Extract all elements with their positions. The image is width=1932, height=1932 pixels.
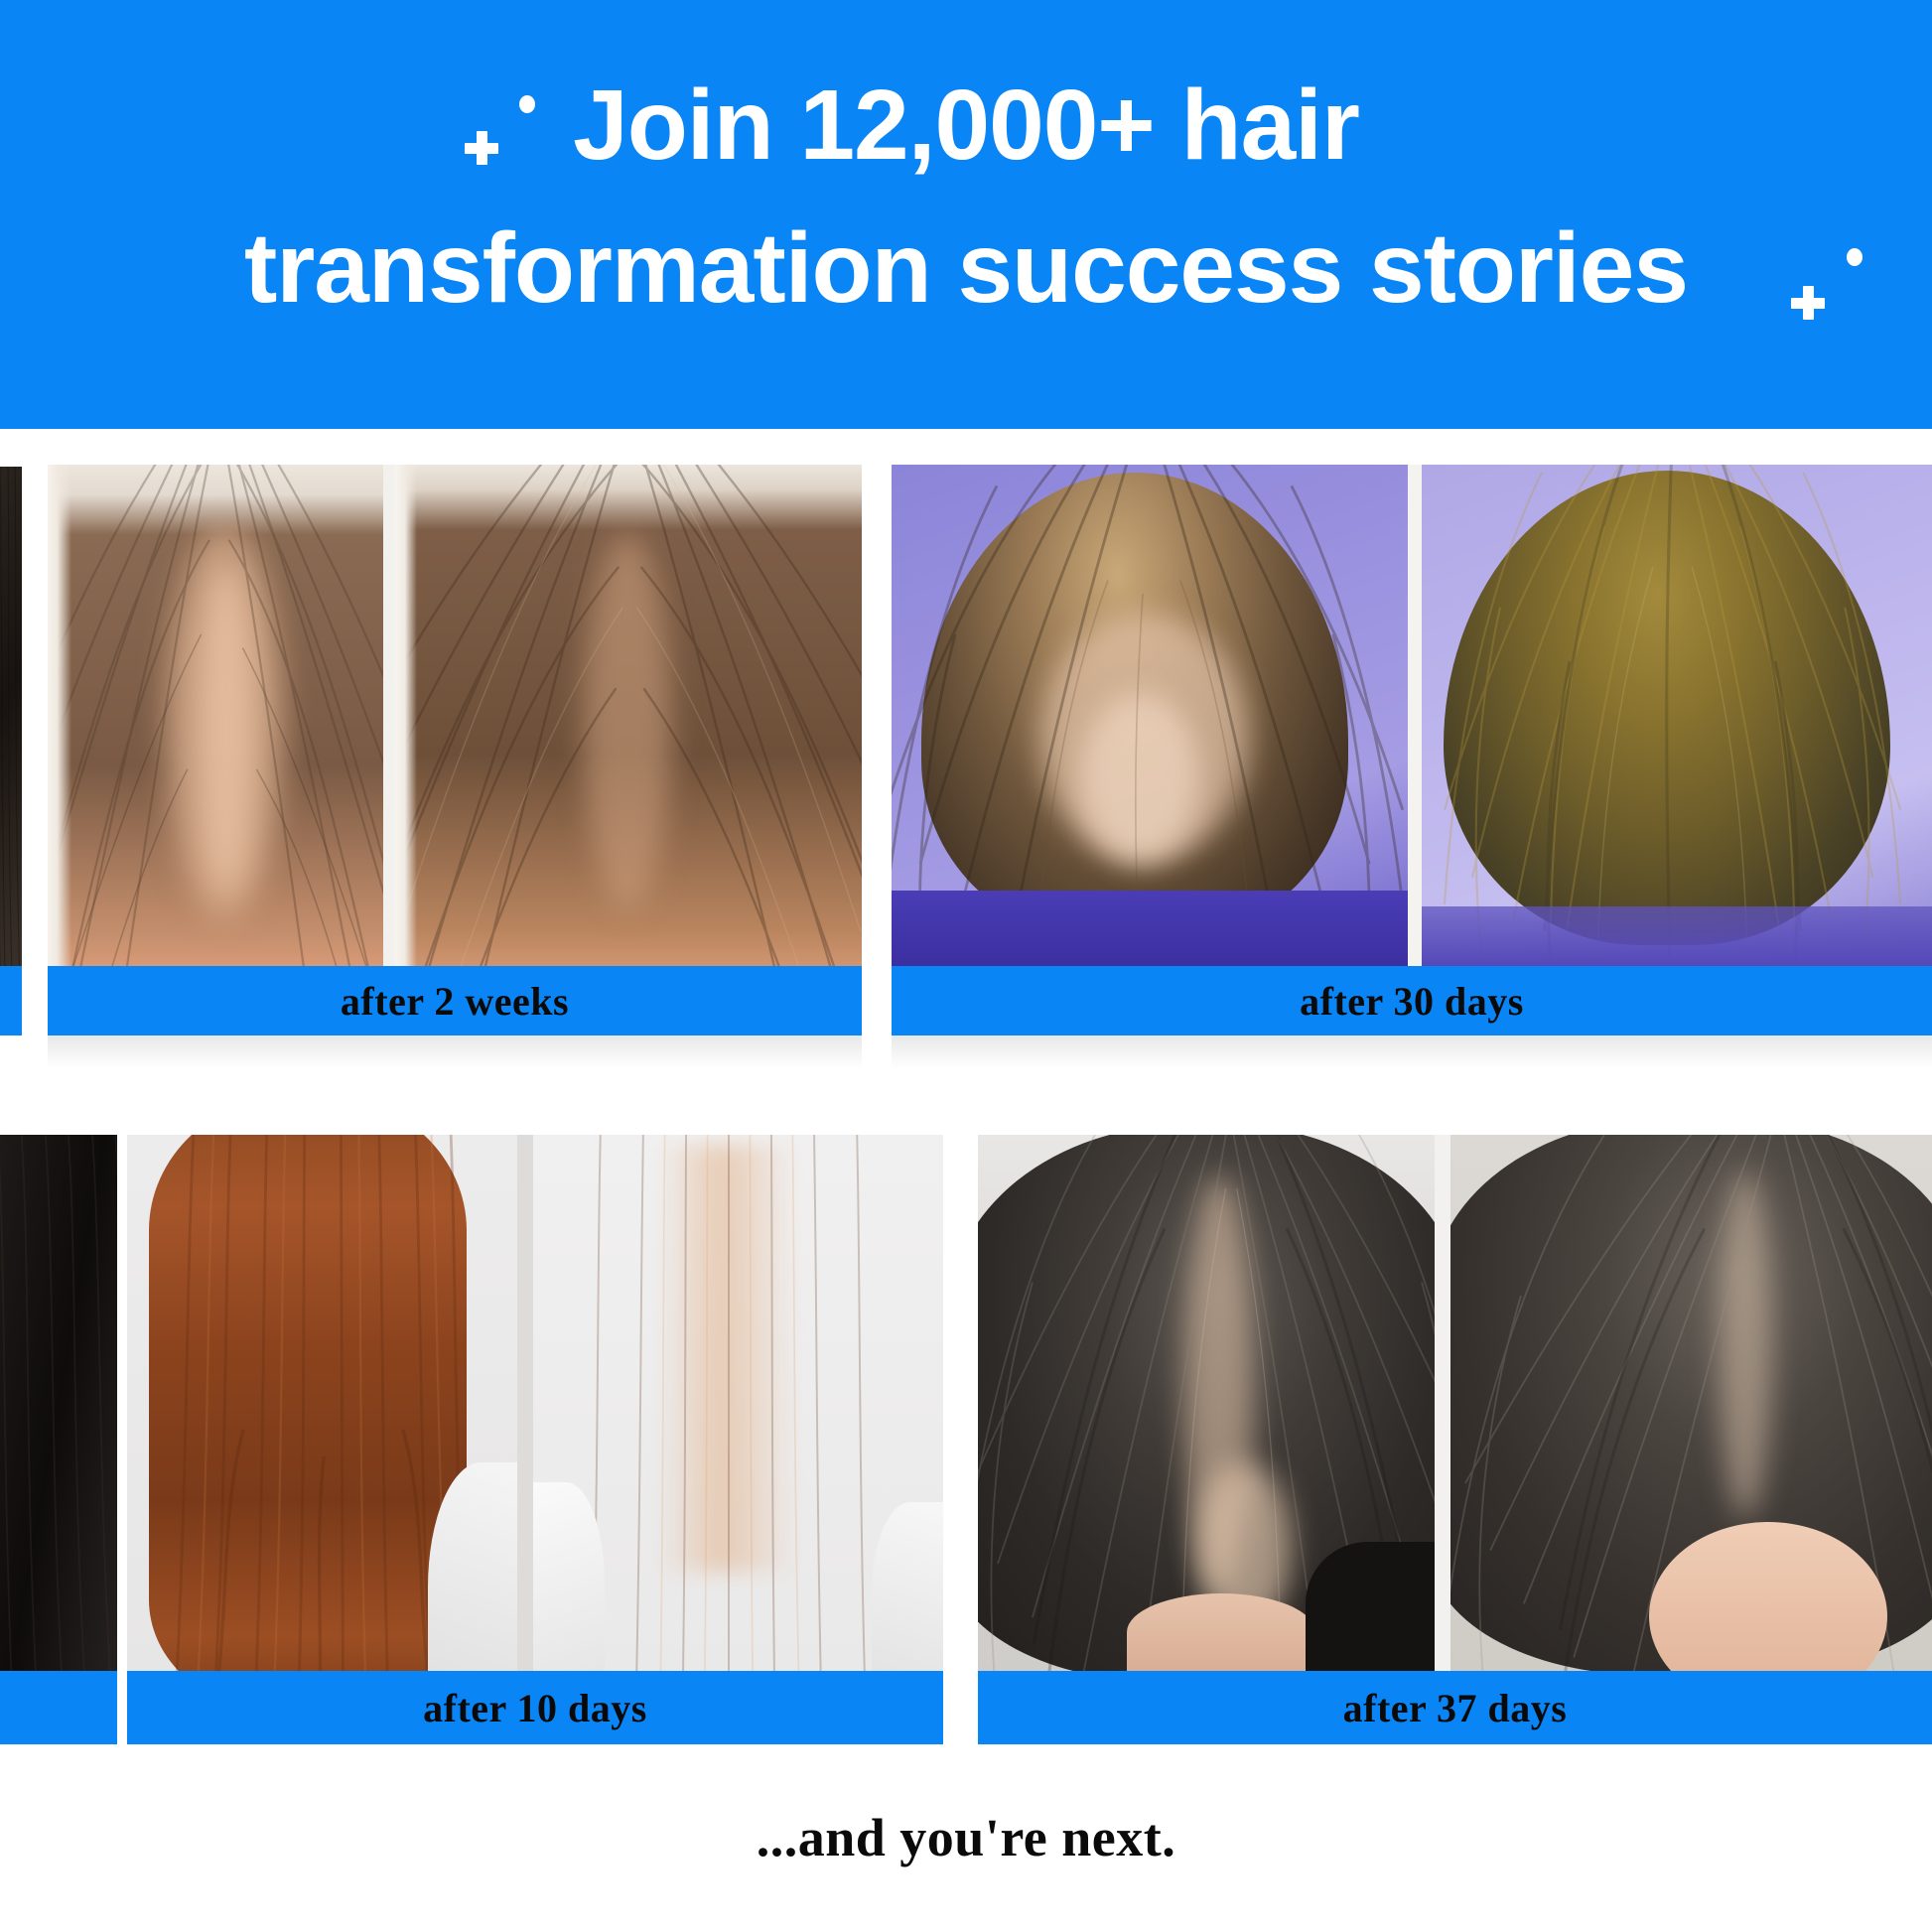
forehead-skin [1127, 1593, 1315, 1671]
hair-strand-texture-icon [48, 465, 383, 966]
shirt [872, 1502, 943, 1671]
testimonial-panel-30-days: after 30 days [892, 465, 1932, 1035]
caption-label: after 10 days [423, 1685, 647, 1731]
edge-caption-sliver [0, 1671, 117, 1744]
caption-label: after 37 days [1343, 1685, 1568, 1731]
panel-shadow [48, 1035, 862, 1069]
photo-divider [1435, 1135, 1450, 1671]
caption-bar-30-days: after 30 days [892, 966, 1932, 1035]
before-photo [978, 1135, 1435, 1671]
before-photo [892, 465, 1408, 966]
caption-bar-2-weeks: after 2 weeks [48, 966, 862, 1035]
hair-strand-texture-icon [0, 467, 22, 966]
photo-divider [383, 465, 395, 966]
caption-bar-10-days: after 10 days [127, 1671, 943, 1744]
edge-photo-sliver [0, 1135, 117, 1671]
hair-strand-texture-icon [0, 1135, 117, 1671]
after-photo [533, 1135, 943, 1671]
hair-strand-texture-icon [1422, 465, 1932, 966]
footer-tagline-row: ...and you're next. [0, 1807, 1932, 1868]
edge-caption-sliver [0, 966, 22, 1035]
footer-tagline: ...and you're next. [757, 1808, 1176, 1867]
page-title: Join 12,000+ hair transformation success… [0, 54, 1932, 340]
photo-divider [517, 1135, 533, 1671]
after-photo [395, 465, 862, 966]
shirt [892, 891, 1408, 966]
testimonial-panel-2-weeks: after 2 weeks [48, 465, 862, 1035]
shirt [1422, 906, 1932, 966]
photo-divider [1408, 465, 1422, 966]
photo-edge-light [48, 465, 71, 966]
caption-label: after 2 weeks [341, 978, 569, 1025]
caption-label: after 30 days [1300, 978, 1524, 1025]
header-banner: Join 12,000+ hair transformation success… [0, 0, 1932, 429]
testimonial-panel-37-days: after 37 days [978, 1135, 1932, 1744]
caption-bar-37-days: after 37 days [978, 1671, 1932, 1744]
before-photo [48, 465, 383, 966]
hair-strand-texture-icon [395, 465, 862, 966]
panel-shadow [892, 1035, 1932, 1069]
testimonial-panel-10-days: after 10 days [127, 1135, 943, 1744]
before-photo [127, 1135, 517, 1671]
clothing [1306, 1542, 1435, 1671]
photo-edge-light [395, 465, 417, 966]
edge-photo-sliver [0, 467, 22, 966]
after-photo [1422, 465, 1932, 966]
after-photo [1450, 1135, 1932, 1671]
